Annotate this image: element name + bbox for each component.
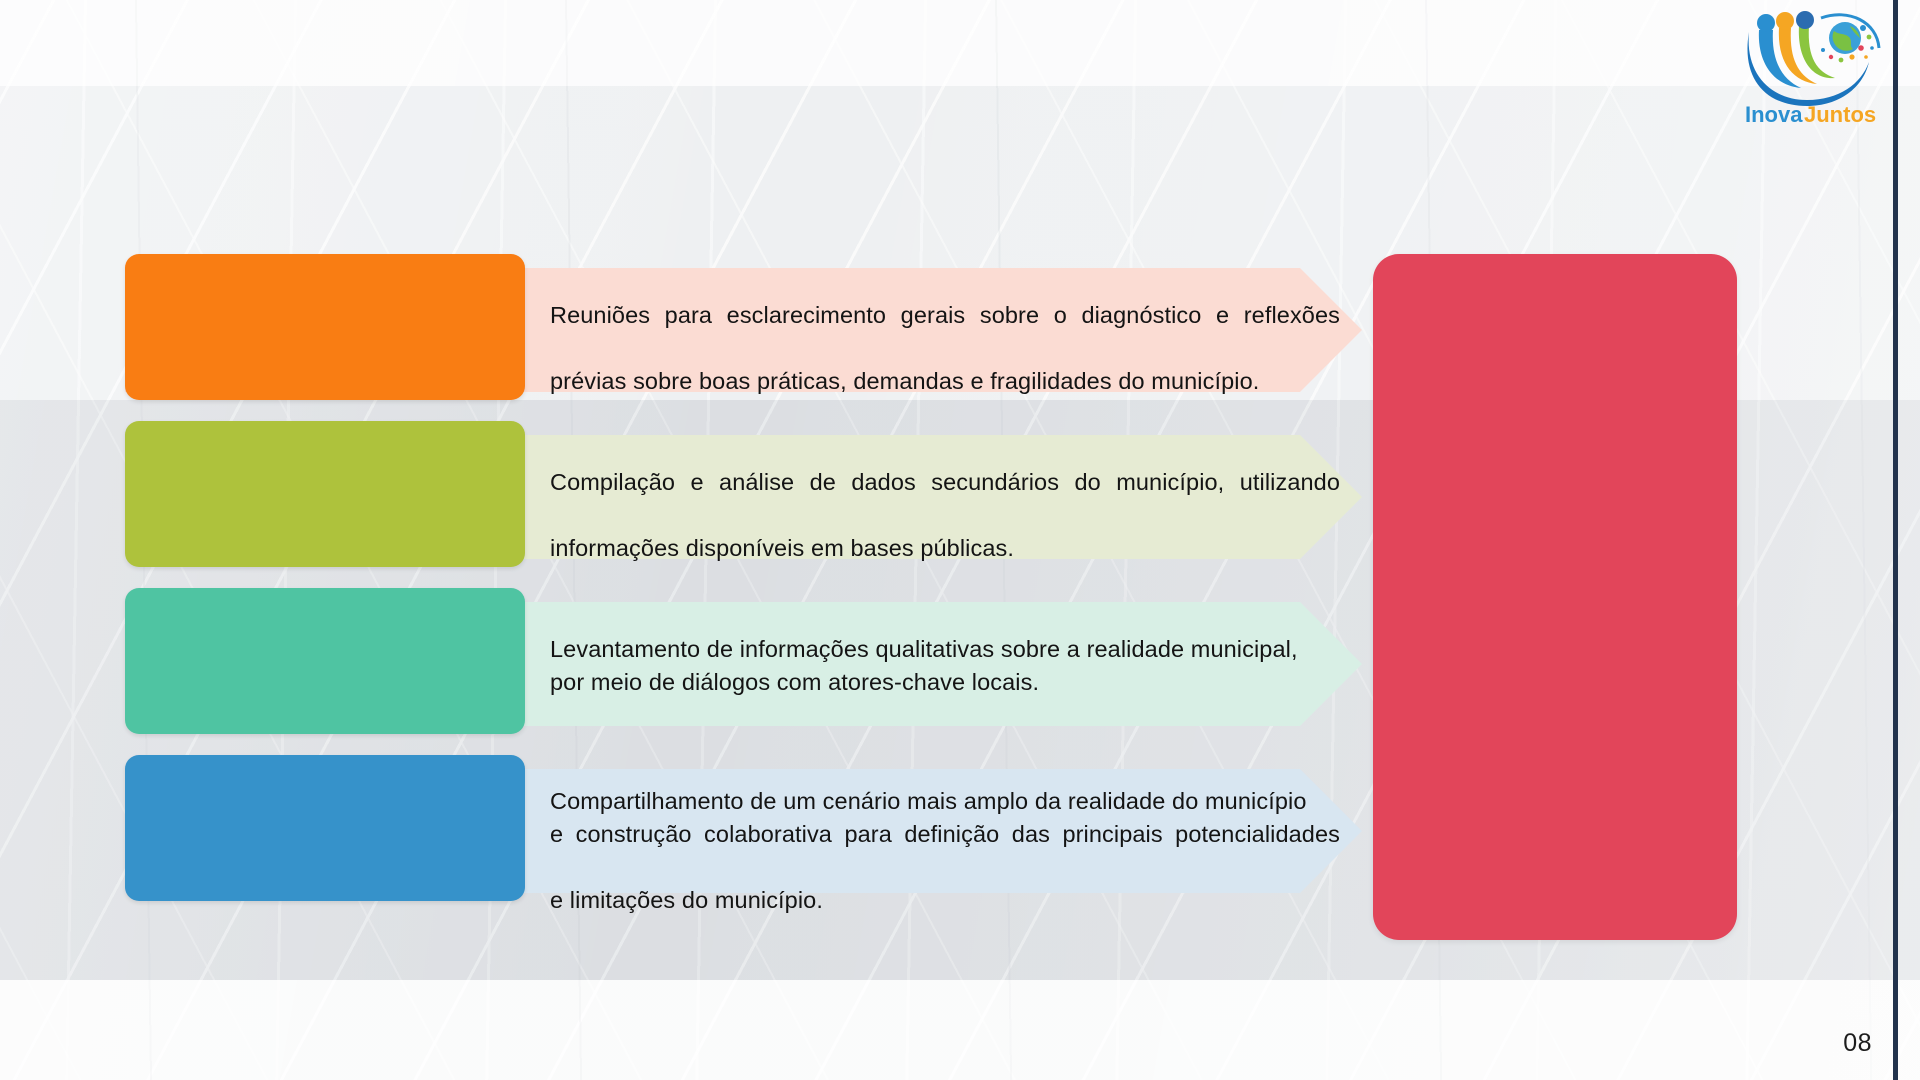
step-chip-2[interactable] [125,421,525,567]
step-text-2: Compilação e análise de dados secundário… [550,466,1340,565]
step-text-1-line-1: Reuniões para esclarecimento gerais sobr… [550,299,1340,365]
step-text-1-line-2: prévias sobre boas práticas, demandas e … [550,365,1340,398]
step-text-2-line-1: Compilação e análise de dados secundário… [550,466,1340,532]
step-chip-1[interactable] [125,254,525,400]
step-chip-4[interactable] [125,755,525,901]
step-text-3-line-2: por meio de diálogos com atores-chave lo… [550,666,1340,699]
step-text-2-line-2: informações disponíveis em bases pública… [550,532,1340,565]
step-text-1: Reuniões para esclarecimento gerais sobr… [550,299,1340,398]
step-chip-3[interactable] [125,588,525,734]
step-text-3: Levantamento de informações qualitativas… [550,633,1340,699]
step-text-4-line-3: e limitações do município. [550,884,1340,917]
red-content-panel[interactable] [1373,254,1737,940]
step-text-4: Compartilhamento de um cenário mais ampl… [550,785,1340,917]
step-text-4-line-1: Compartilhamento de um cenário mais ampl… [550,785,1340,818]
step-text-4-line-2: e construção colaborativa para definição… [550,818,1340,884]
slide-canvas: Inova Juntos Reuniões para esclareciment… [0,0,1920,1080]
page-number: 08 [1843,1029,1872,1058]
step-text-3-line-1: Levantamento de informações qualitativas… [550,633,1340,666]
